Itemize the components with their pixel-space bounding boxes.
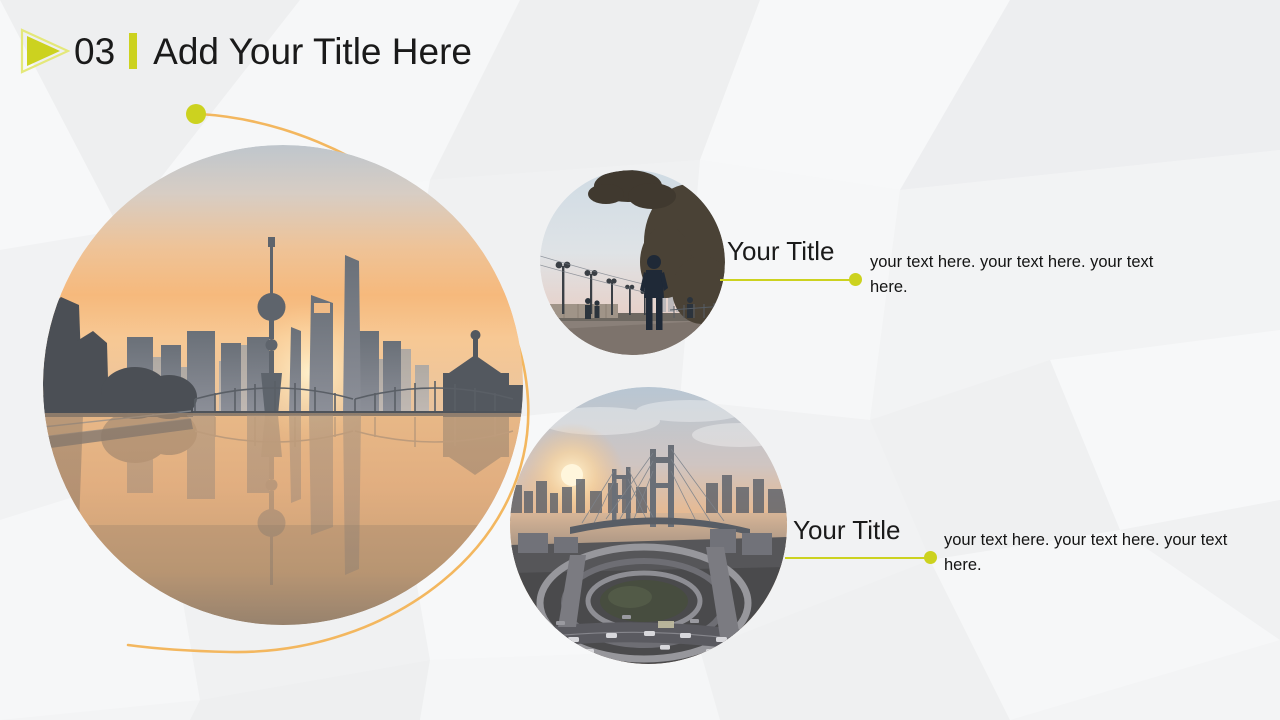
- main-photo-circle[interactable]: [43, 145, 523, 625]
- photo-circle-block-2[interactable]: [510, 387, 787, 664]
- block-1-title: Your Title: [727, 238, 834, 264]
- block-1-connector-dot: [849, 273, 862, 286]
- block-1-body-text: your text here. your text here. your tex…: [870, 250, 1170, 300]
- block-2-connector: [785, 551, 937, 565]
- block-2-title: Your Title: [793, 517, 900, 543]
- photo-circle-block-1[interactable]: [540, 170, 725, 355]
- play-triangle-icon: [18, 27, 70, 75]
- block-2-body-text: your text here. your text here. your tex…: [944, 528, 1244, 578]
- slide-number: 03: [74, 33, 115, 70]
- page-title: Add Your Title Here: [153, 33, 472, 70]
- title-divider: [129, 33, 137, 69]
- block-1-connector: [720, 273, 862, 287]
- block-2-connector-line: [785, 557, 927, 559]
- slide-header: 03 Add Your Title Here: [18, 22, 472, 80]
- block-1-connector-line: [720, 279, 852, 281]
- slide-canvas: 03 Add Your Title Here Your Title your t…: [0, 0, 1280, 720]
- block-2-connector-dot: [924, 551, 937, 564]
